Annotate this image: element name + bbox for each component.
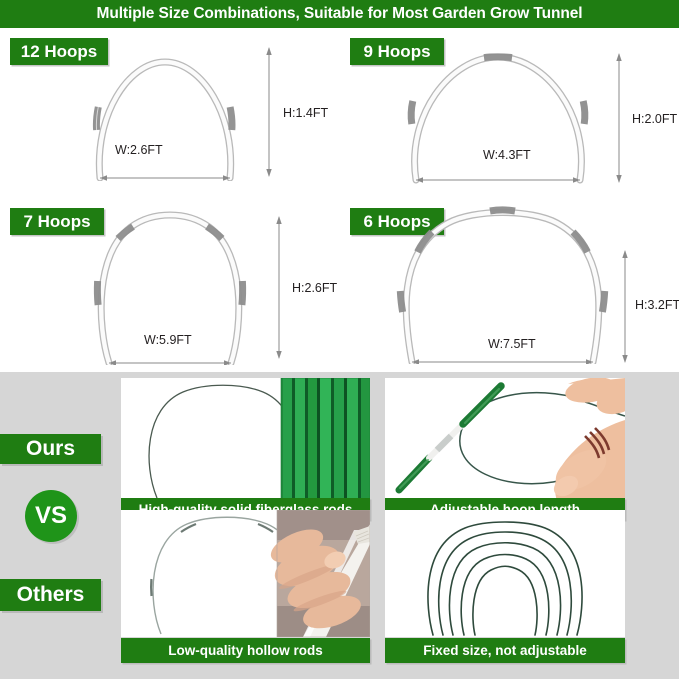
photo-adjustable-hoop <box>385 378 625 501</box>
width-label: W:4.3FT <box>483 148 531 162</box>
infographic-root: Multiple Size Combinations, Suitable for… <box>0 0 679 679</box>
ours-badge: Ours <box>0 434 101 464</box>
size-cell-6-hoops: 6 Hoops W:7.5FT <box>340 193 679 368</box>
height-dimension-arrow <box>612 52 626 184</box>
header-banner: Multiple Size Combinations, Suitable for… <box>0 0 679 28</box>
size-combinations-grid: 12 Hoops W:2.6FT <box>0 28 679 368</box>
others-badge: Others <box>0 579 101 611</box>
caption-hollow-rods: Low-quality hollow rods <box>121 638 370 663</box>
photo-hollow-rods <box>121 510 370 637</box>
photo-panel-adjustable-hoop <box>385 378 625 501</box>
vs-badge: VS <box>25 490 77 542</box>
comparison-section: Ours VS Others <box>0 372 679 679</box>
width-label: W:2.6FT <box>115 143 163 157</box>
size-cell-9-hoops: 9 Hoops W:4.3FT H:2.0FT <box>340 28 679 193</box>
size-cell-12-hoops: 12 Hoops W:2.6FT <box>0 28 340 193</box>
photo-panel-fixed-size <box>385 510 625 637</box>
height-dimension-arrow <box>618 249 632 364</box>
width-label: W:7.5FT <box>488 337 536 351</box>
caption-fixed-size: Fixed size, not adjustable <box>385 638 625 663</box>
size-cell-7-hoops: 7 Hoops W:5.9FT H:2.6FT <box>0 193 340 368</box>
width-label: W:5.9FT <box>144 333 192 347</box>
arch-diagram-9-hoops <box>398 44 598 184</box>
arch-diagram-12-hoops <box>70 46 260 181</box>
photo-fiberglass-rods <box>121 378 370 501</box>
height-dimension-arrow <box>262 46 276 178</box>
photo-fixed-size-hoops <box>385 510 625 637</box>
height-label: H:1.4FT <box>283 106 328 120</box>
height-label: H:2.0FT <box>632 112 677 126</box>
height-label: H:3.2FT <box>635 298 679 312</box>
header-title: Multiple Size Combinations, Suitable for… <box>97 5 583 23</box>
height-dimension-arrow <box>272 215 286 360</box>
photo-panel-fiberglass-rods <box>121 378 370 501</box>
height-label: H:2.6FT <box>292 281 337 295</box>
photo-panel-hollow-rods <box>121 510 370 637</box>
